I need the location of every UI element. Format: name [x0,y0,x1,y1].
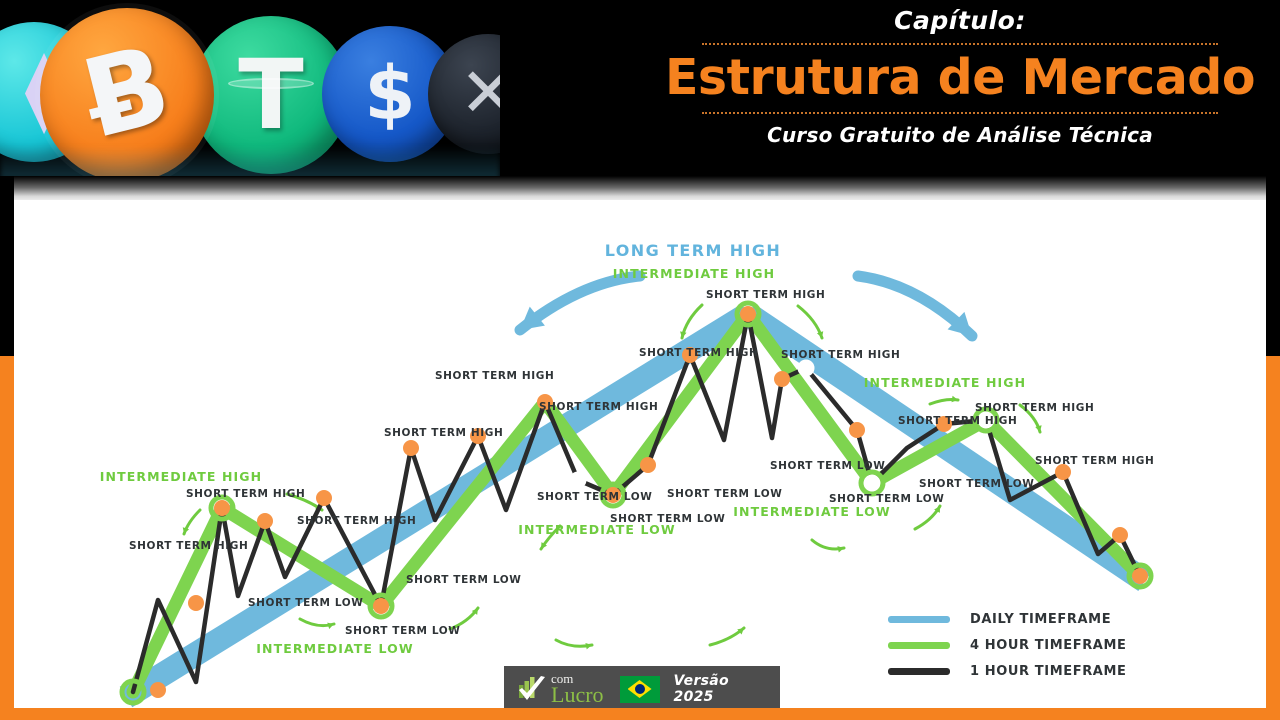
bar-chart-check-icon [518,676,546,702]
pivot-label-short-term-10: Short term low [537,492,652,503]
usdc-glyph: $ [364,57,416,131]
legend-label-4hour: 4 hour timeframe [970,638,1127,653]
legend-swatch-1hour [888,668,950,675]
watermark-bar: com Lucro Versão 2025 [504,666,780,712]
wordmark-lucro: Lucro [551,684,604,706]
coin-reflection [0,146,500,180]
pivot-label-short-term-8: Short term high [435,371,554,382]
frame-left-black [0,176,14,358]
legend-label-1hour: 1 hour timeframe [970,664,1127,679]
tether-bar-decoration [228,78,314,89]
flag-globe [635,684,645,694]
pivot-label-short-term-19: Short term high [898,416,1017,427]
legend-swatch-4hour [888,642,950,649]
frame-left-orange [0,356,14,720]
version-label: Versão 2025 [674,673,766,705]
pivot-label-short-term-3: Short term high [297,516,416,527]
pivot-label-short-term-9: Short term high [539,402,658,413]
annotation-intermediate-high-2: Intermediate high [100,471,262,484]
frame-right-orange [1266,356,1280,720]
annotation-intermediate-low-4: Intermediate low [256,643,413,656]
legend-item-daily: Daily timeframe [888,606,1148,632]
chart-legend: Daily timeframe 4 hour timeframe 1 hour … [888,606,1148,684]
annotation-intermediate-low-5: Intermediate low [518,524,675,537]
pivot-label-short-term-5: Short term low [345,626,460,637]
page-subtitle: Curso Gratuito de Análise Técnica [767,114,1153,147]
chapter-label: Capítulo: [894,6,1026,35]
pivot-label-short-term-16: Short term low [770,461,885,472]
page-title: Estrutura de Mercado [665,45,1255,112]
frame-bottom-orange [0,708,1280,720]
slide-root: ⧫ T $ ✕ Ƀ Capítulo: Estrutura de Mercado… [0,0,1280,720]
legend-item-4hour: 4 hour timeframe [888,632,1148,658]
legend-item-1hour: 1 hour timeframe [888,658,1148,684]
pivot-label-short-term-2: Short term high [186,489,305,500]
pivot-label-short-term-0: Short term high [129,541,248,552]
crypto-coin-strip: ⧫ T $ ✕ Ƀ [0,0,500,180]
pivot-label-short-term-15: Short term low [667,489,782,500]
pivot-label-short-term-14: Short term high [781,350,900,361]
legend-swatch-daily [888,616,950,623]
tether-glyph: T [238,47,303,143]
annotation-intermediate-high-1: Intermediate high [613,268,775,281]
bitcoin-glyph: Ƀ [74,31,180,156]
header-banner: ⧫ T $ ✕ Ƀ Capítulo: Estrutura de Mercado… [0,0,1280,180]
brazil-flag-icon [620,676,660,703]
frame-right-black [1266,176,1280,358]
pivot-label-short-term-4: Short term low [248,598,363,609]
annotation-long-term-high: Long term high [605,243,781,259]
annotation-intermediate-low-6: Intermediate low [733,506,890,519]
legend-label-daily: Daily timeframe [970,612,1111,627]
pivot-label-short-term-13: Short term high [706,290,825,301]
pivot-label-short-term-12: Short term high [639,348,758,359]
annotation-intermediate-high-3: Intermediate high [864,377,1026,390]
xrp-glyph: ✕ [460,60,501,128]
title-block: Capítulo: Estrutura de Mercado Curso Gra… [640,0,1280,180]
pivot-label-short-term-17: Short term low [829,494,944,505]
pivot-label-short-term-21: Short term high [1035,456,1154,467]
pivot-label-short-term-18: Short term low [919,479,1034,490]
comlucro-logo: com Lucro [518,672,604,706]
pivot-label-short-term-20: Short term high [975,403,1094,414]
pivot-label-short-term-6: Short term low [406,575,521,586]
comlucro-wordmark: com Lucro [551,672,604,706]
pivot-label-short-term-7: Short term high [384,428,503,439]
